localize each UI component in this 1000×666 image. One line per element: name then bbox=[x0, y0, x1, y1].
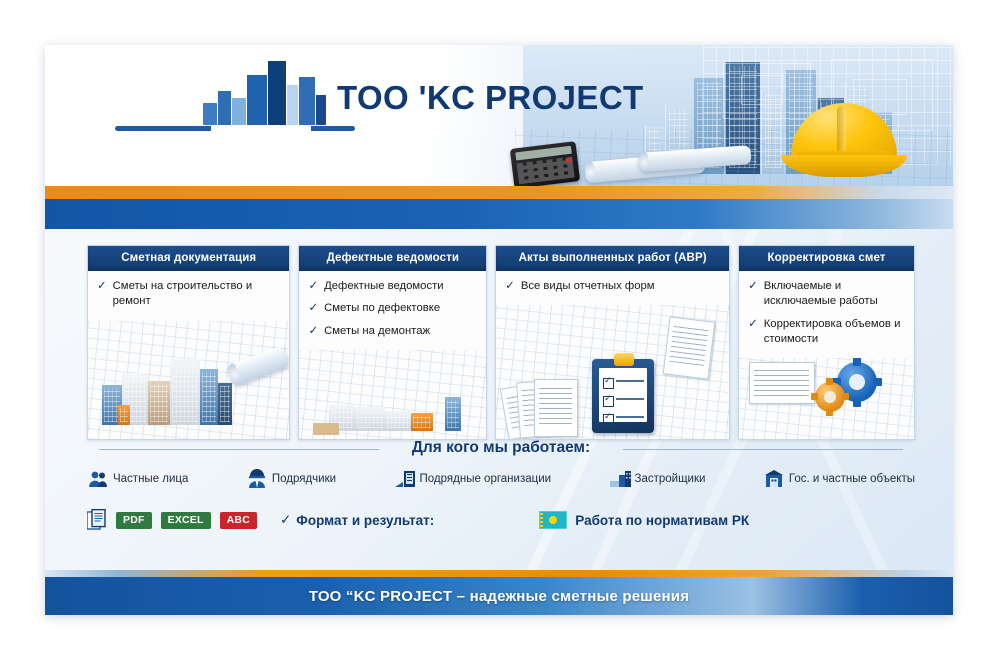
body-area: Сметная документация ✓ Сметы на строител… bbox=[45, 229, 953, 570]
footer-orange-bar bbox=[45, 570, 953, 577]
card-korrektirovka-smet[interactable]: Корректировка смет ✓ Включаемые и исключ… bbox=[738, 245, 915, 440]
audience-item-gos-i-chastnye-obyekty[interactable]: Гос. и частные объекты bbox=[763, 469, 915, 489]
card-defektnye-vedomosti[interactable]: Дефектные ведомости ✓ Дефектные ведомост… bbox=[298, 245, 487, 440]
check-icon: ✓ bbox=[308, 324, 318, 339]
bullet-item: ✓ Включаемые и исключаемые работы bbox=[748, 279, 905, 310]
check-icon: ✓ bbox=[748, 317, 758, 348]
bullet-label: Сметы на демонтаж bbox=[324, 324, 430, 339]
bullet-item: ✓ Все виды отчетных форм bbox=[505, 279, 720, 294]
check-icon: ✓ bbox=[748, 279, 758, 310]
card-bullets: ✓ Дефектные ведомости ✓ Сметы по дефекто… bbox=[299, 271, 486, 348]
bullet-item: ✓ Сметы на демонтаж bbox=[308, 324, 477, 339]
people-icon bbox=[87, 469, 108, 489]
footer-text: ТОО “KC PROJECT – надежные сметные решен… bbox=[309, 588, 689, 605]
clipboard-documents-photo bbox=[496, 305, 729, 439]
audience-item-chastnye-litsa[interactable]: Частные лица bbox=[87, 469, 188, 489]
card-title: Акты выполненных работ (АВР) bbox=[496, 246, 729, 271]
check-icon: ✓ bbox=[505, 279, 515, 294]
audience-label: Гос. и частные объекты bbox=[789, 473, 915, 485]
card-smetnaya-dokumentatsiya[interactable]: Сметная документация ✓ Сметы на строител… bbox=[87, 245, 290, 440]
bullet-label: Все виды отчетных форм bbox=[521, 279, 655, 294]
office-buildings-icon bbox=[394, 469, 415, 489]
hard-hat-icon bbox=[781, 103, 907, 177]
card-title: Сметная документация bbox=[88, 246, 289, 271]
worker-icon bbox=[246, 469, 267, 489]
bullet-label: Включаемые и исключаемые работы bbox=[764, 279, 905, 310]
page-title: TOO 'KC PROJECT bbox=[337, 79, 644, 117]
developer-buildings-icon bbox=[609, 469, 630, 489]
standards-label: Работа по нормативам РК bbox=[575, 513, 749, 528]
bullet-item: ✓ Сметы по дефектовке bbox=[308, 301, 477, 316]
bullet-item: ✓ Дефектные ведомости bbox=[308, 279, 477, 294]
gears-documents-photo bbox=[739, 358, 914, 439]
bullet-label: Корректировка объемов и стоимости bbox=[764, 317, 905, 348]
audience-list: Частные лица Подрядчики bbox=[87, 469, 915, 489]
check-icon: ✓ bbox=[97, 279, 107, 310]
government-building-icon bbox=[763, 469, 784, 489]
check-icon: ✓ bbox=[308, 279, 318, 294]
building-skyline-logo bbox=[115, 67, 345, 139]
audience-label: Застройщики bbox=[635, 473, 706, 485]
buildings-blueprint-photo bbox=[88, 321, 289, 440]
check-icon: ✓ bbox=[308, 301, 318, 316]
bullet-item: ✓ Сметы на строительство и ремонт bbox=[97, 279, 280, 310]
bullet-label: Сметы на строительство и ремонт bbox=[113, 279, 281, 310]
audience-item-podryadnye-organizatsii[interactable]: Подрядные организации bbox=[394, 469, 552, 489]
orange-accent-bar bbox=[45, 186, 953, 199]
service-cards: Сметная документация ✓ Сметы на строител… bbox=[87, 245, 915, 440]
badge-pdf: PDF bbox=[116, 512, 152, 529]
standards-group: Работа по нормативам РК bbox=[539, 511, 749, 529]
badge-excel: EXCEL bbox=[161, 512, 211, 529]
card-title: Дефектные ведомости bbox=[299, 246, 486, 271]
format-result-label: ✓ Формат и результат: bbox=[280, 512, 434, 528]
calculator-icon bbox=[510, 141, 580, 189]
paper-stack bbox=[504, 373, 580, 435]
audience-label: Подрядчики bbox=[272, 473, 336, 485]
hero-banner: TOO 'KC PROJECT bbox=[45, 45, 953, 192]
card-title: Корректировка смет bbox=[739, 246, 914, 271]
documents-icon bbox=[87, 509, 107, 531]
card-bullets: ✓ Все виды отчетных форм bbox=[496, 271, 729, 303]
kazakhstan-flag-icon bbox=[539, 511, 567, 529]
audience-item-zastroyshchiki[interactable]: Застройщики bbox=[609, 469, 706, 489]
check-icon: ✓ bbox=[280, 512, 291, 528]
audience-label: Частные лица bbox=[113, 473, 188, 485]
poster: TOO 'KC PROJECT Сметная документация ✓ С… bbox=[45, 45, 953, 615]
bullet-item: ✓ Корректировка объемов и стоимости bbox=[748, 317, 905, 348]
gear-orange-icon bbox=[815, 382, 845, 412]
card-bullets: ✓ Сметы на строительство и ремонт bbox=[88, 271, 289, 319]
bullet-label: Дефектные ведомости bbox=[324, 279, 444, 294]
audience-item-podryadchiki[interactable]: Подрядчики bbox=[246, 469, 336, 489]
card-akty-vypolnennyh-rabot[interactable]: Акты выполненных работ (АВР) ✓ Все виды … bbox=[495, 245, 730, 440]
card-bullets: ✓ Включаемые и исключаемые работы ✓ Корр… bbox=[739, 271, 914, 356]
audience-label: Подрядные организации bbox=[420, 473, 552, 485]
bullet-label: Сметы по дефектовке bbox=[324, 301, 440, 316]
format-result-text: Формат и результат: bbox=[296, 513, 434, 528]
demolition-site-photo bbox=[299, 350, 486, 439]
blue-accent-bar bbox=[45, 199, 953, 229]
formats-row: PDF EXCEL ABC ✓ Формат и результат: Рабо… bbox=[87, 509, 915, 531]
footer-banner: ТОО “KC PROJECT – надежные сметные решен… bbox=[45, 577, 953, 615]
badge-abc: ABC bbox=[220, 512, 257, 529]
clipboard-icon bbox=[592, 359, 654, 433]
